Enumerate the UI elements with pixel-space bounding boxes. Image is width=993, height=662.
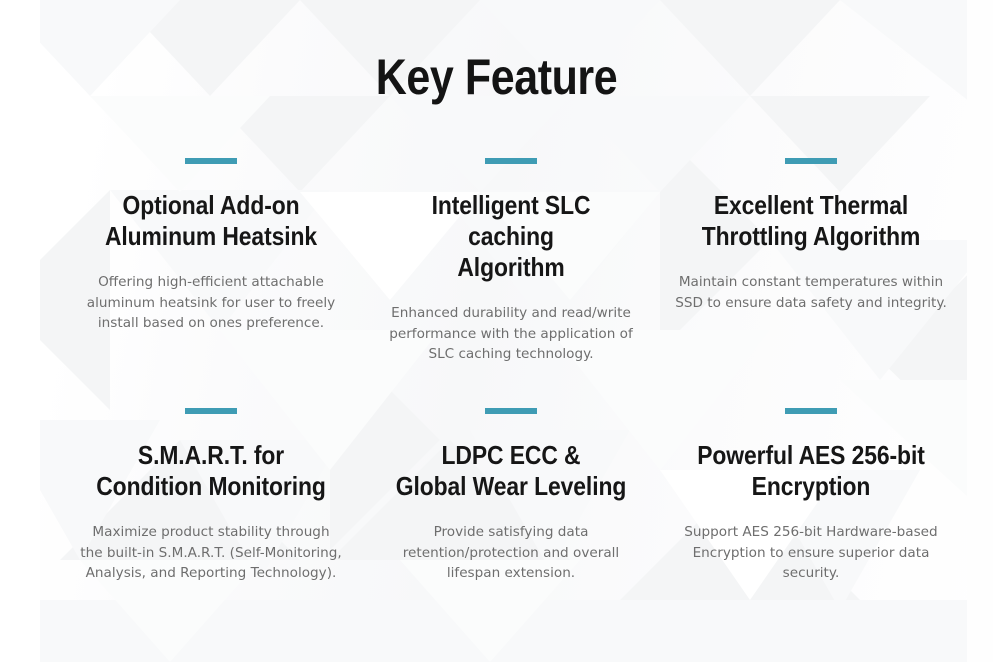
feature-card-ldpc-ecc-global-wear-leveling: LDPC ECC & Global Wear Leveling Provide … (361, 408, 661, 648)
page-title: Key Feature (70, 46, 924, 108)
key-feature-page: Key Feature Optional Add-on Aluminum Hea… (0, 0, 993, 662)
accent-bar-icon (785, 408, 837, 414)
feature-description: Support AES 256-bit Hardware-based Encry… (675, 522, 947, 584)
feature-description: Offering high-efficient attachable alumi… (80, 272, 342, 334)
feature-card-smart-for-condition-monitoring: S.M.A.R.T. for Condition Monitoring Maxi… (61, 408, 361, 648)
feature-title: Intelligent SLC caching Algorithm (391, 190, 630, 283)
feature-row-top: Optional Add-on Aluminum Heatsink Offeri… (0, 158, 993, 408)
feature-title: Excellent Thermal Throttling Algorithm (691, 190, 930, 252)
feature-title: Powerful AES 256-bit Encryption (691, 440, 930, 502)
feature-description: Provide satisfying data retention/protec… (377, 522, 645, 584)
feature-grid: Optional Add-on Aluminum Heatsink Offeri… (0, 158, 993, 648)
page-content: Key Feature Optional Add-on Aluminum Hea… (0, 0, 993, 662)
accent-bar-icon (785, 158, 837, 164)
feature-card-powerful-aes-256-bit-encryption: Powerful AES 256-bit Encryption Support … (661, 408, 961, 648)
accent-bar-icon (185, 158, 237, 164)
accent-bar-icon (485, 158, 537, 164)
feature-description: Maintain constant temperatures within SS… (675, 272, 947, 313)
feature-description: Maximize product stability through the b… (80, 522, 342, 584)
feature-row-bottom: S.M.A.R.T. for Condition Monitoring Maxi… (0, 408, 993, 648)
accent-bar-icon (485, 408, 537, 414)
feature-card-intelligent-slc-caching-algorithm: Intelligent SLC caching Algorithm Enhanc… (361, 158, 661, 408)
feature-title: S.M.A.R.T. for Condition Monitoring (91, 440, 330, 502)
feature-card-optional-add-on-aluminum-heatsink: Optional Add-on Aluminum Heatsink Offeri… (61, 158, 361, 408)
feature-description: Enhanced durability and read/write perfo… (377, 303, 645, 365)
feature-title: LDPC ECC & Global Wear Leveling (391, 440, 630, 502)
feature-title: Optional Add-on Aluminum Heatsink (91, 190, 330, 252)
accent-bar-icon (185, 408, 237, 414)
feature-card-excellent-thermal-throttling-algorithm: Excellent Thermal Throttling Algorithm M… (661, 158, 961, 408)
